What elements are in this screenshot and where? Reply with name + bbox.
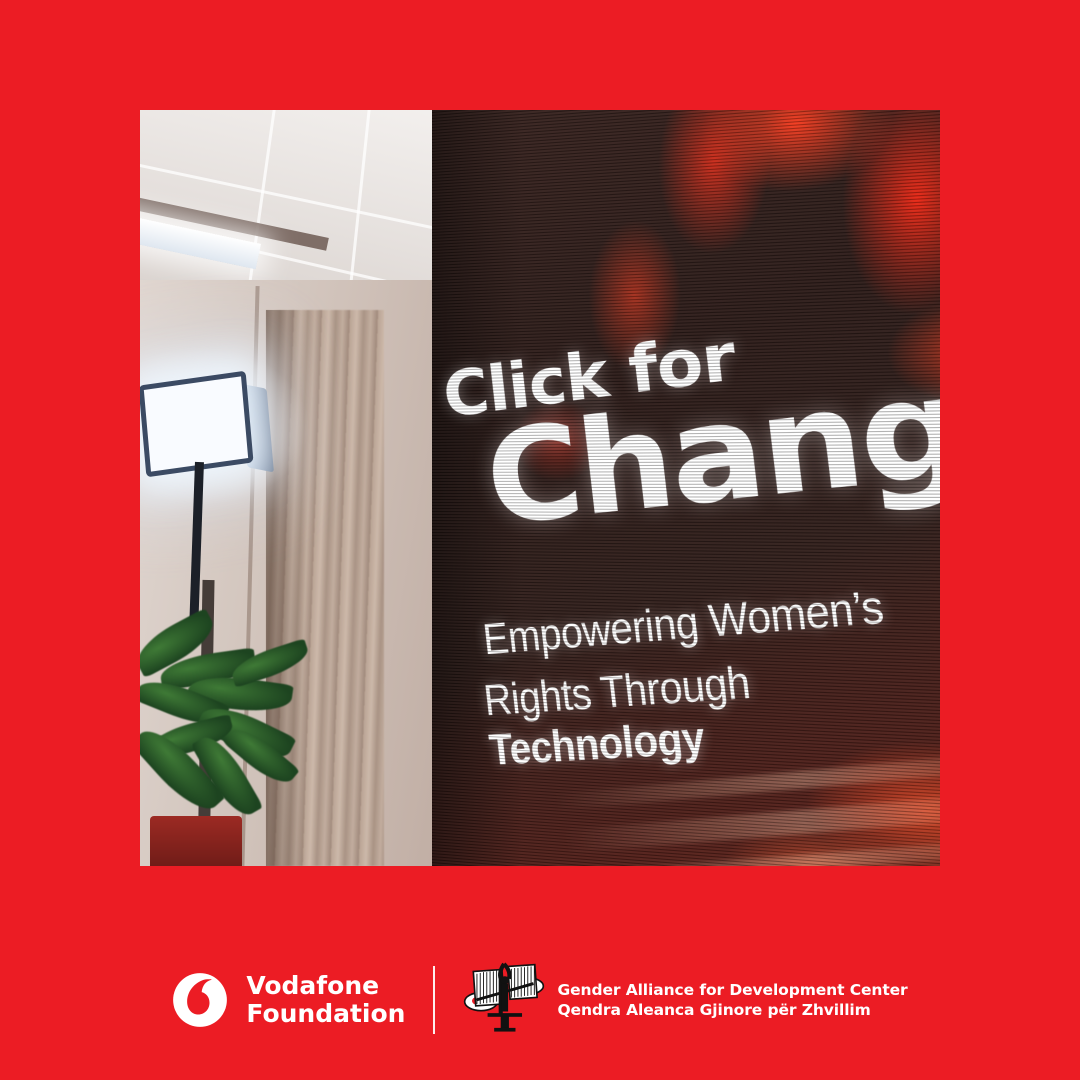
logo-divider: [433, 966, 435, 1034]
gender-alliance-scales-icon: [463, 958, 545, 1042]
slide-text-block: Click for Change Empowering Women’s Righ…: [432, 110, 940, 866]
gadc-logo-block: Gender Alliance for Development Center Q…: [463, 958, 907, 1042]
vodafone-wordmark-line2: Foundation: [246, 1000, 405, 1029]
slide-subtitle-line2-normal: Rights Through: [481, 657, 752, 725]
room-interior: [140, 110, 450, 866]
slide-subtitle-line2: Rights Through Technology: [481, 642, 940, 776]
vodafone-speechmark-icon: [172, 972, 228, 1028]
peace-lily-plant: [140, 620, 376, 866]
gadc-name-english: Gender Alliance for Development Center: [557, 980, 907, 1000]
plant-pot: [150, 816, 242, 866]
event-photo: Click for Change Empowering Women’s Righ…: [140, 110, 940, 866]
vodafone-foundation-logo: Vodafone Foundation: [172, 972, 405, 1029]
vodafone-wordmark-line1: Vodafone: [246, 972, 405, 1001]
vodafone-wordmark: Vodafone Foundation: [246, 972, 405, 1029]
gadc-name-albanian: Qendra Aleanca Gjinore për Zhvillim: [557, 1000, 907, 1020]
led-video-wall: Click for Change Empowering Women’s Righ…: [432, 110, 940, 866]
gadc-name-text: Gender Alliance for Development Center Q…: [557, 980, 907, 1021]
footer-logo-bar: Vodafone Foundation: [0, 940, 1080, 1060]
